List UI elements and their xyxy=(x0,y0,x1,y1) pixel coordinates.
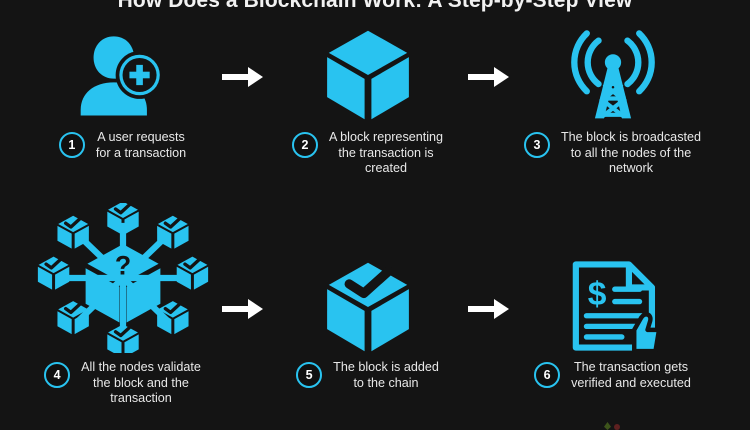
step-4-number: 4 xyxy=(44,362,70,388)
steps-row-1: 1 A user requests for a transaction 2 A … xyxy=(0,22,750,212)
infographic-canvas: How Does a Blockchain Work: A Step-by-St… xyxy=(0,0,750,430)
step-6-number: 6 xyxy=(534,362,560,388)
watermark xyxy=(604,418,623,430)
step-1-label: A user requests for a transaction xyxy=(96,130,186,161)
user-add-icon xyxy=(77,29,169,121)
step-6-icon-wrap: $ xyxy=(567,202,659,354)
step-2-number: 2 xyxy=(292,132,318,158)
node-network-validate-icon: ? xyxy=(34,203,212,353)
page-title: How Does a Blockchain Work: A Step-by-St… xyxy=(0,0,750,13)
step-3-label: The block is broadcasted to all the node… xyxy=(561,130,701,177)
step-2-icon-wrap xyxy=(325,26,411,124)
step-5-number: 5 xyxy=(296,362,322,388)
cube-block-icon xyxy=(325,29,411,121)
step-5-caption: 5 The block is added to the chain xyxy=(253,360,483,391)
step-3: 3 The block is broadcasted to all the no… xyxy=(490,22,735,212)
arrow-step4-to-step5 xyxy=(222,296,264,322)
step-4: ? xyxy=(0,200,245,415)
step-2-caption: 2 A block representing the transaction i… xyxy=(253,130,483,177)
dot-icon xyxy=(614,424,620,430)
step-2: 2 A block representing the transaction i… xyxy=(245,22,490,212)
arrow-step2-to-step3 xyxy=(468,64,510,90)
svg-text:?: ? xyxy=(114,250,130,280)
broadcast-tower-icon xyxy=(566,28,660,122)
invoice-thumbsup-icon: $ xyxy=(567,259,659,353)
step-3-caption: 3 The block is broadcasted to all the no… xyxy=(498,130,728,177)
steps-row-2: ? xyxy=(0,200,750,415)
step-3-number: 3 xyxy=(524,132,550,158)
step-5-label: The block is added to the chain xyxy=(333,360,439,391)
step-5-icon-wrap xyxy=(325,202,411,354)
step-4-icon-wrap: ? xyxy=(34,202,212,354)
step-1-number: 1 xyxy=(59,132,85,158)
step-1-caption: 1 A user requests for a transaction xyxy=(8,130,238,161)
cube-check-icon xyxy=(325,261,411,353)
step-6: $ 6 The transaction gets verified and ex… xyxy=(490,200,735,415)
step-6-label: The transaction gets verified and execut… xyxy=(571,360,691,391)
leaf-icon xyxy=(604,422,611,430)
step-4-caption: 4 All the nodes validate the block and t… xyxy=(8,360,238,407)
arrow-step5-to-step6 xyxy=(468,296,510,322)
step-2-label: A block representing the transaction is … xyxy=(329,130,443,177)
step-1: 1 A user requests for a transaction xyxy=(0,22,245,212)
step-1-icon-wrap xyxy=(77,26,169,124)
step-6-caption: 6 The transaction gets verified and exec… xyxy=(498,360,728,391)
svg-text:$: $ xyxy=(587,276,606,313)
arrow-step1-to-step2 xyxy=(222,64,264,90)
step-4-label: All the nodes validate the block and the… xyxy=(81,360,201,407)
step-5: 5 The block is added to the chain xyxy=(245,200,490,415)
step-3-icon-wrap xyxy=(566,26,660,124)
